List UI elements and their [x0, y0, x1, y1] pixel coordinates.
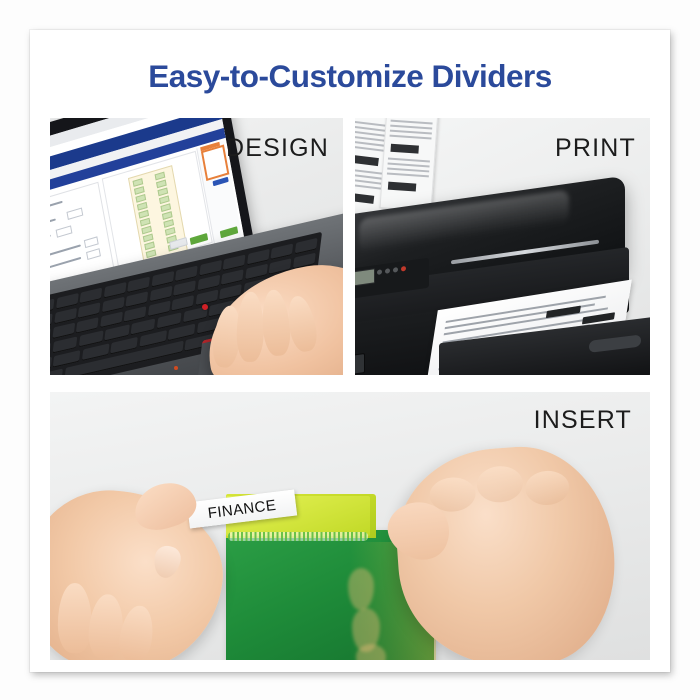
page-title: Easy-to-Customize Dividers	[30, 58, 670, 95]
keyboard-indicator-led	[174, 366, 178, 370]
printer-button[interactable]	[385, 268, 390, 274]
printer-power-button[interactable]	[401, 266, 406, 272]
divider-stitched-edge	[228, 532, 368, 541]
printer-button-row[interactable]	[377, 266, 406, 275]
rail-primary-button[interactable]	[220, 226, 239, 238]
preview-divider-sheet	[128, 165, 188, 263]
preview-primary-button[interactable]	[190, 233, 209, 245]
panel-label-design: DESIGN	[226, 134, 329, 163]
panel-insert: FINANCE INSERT	[50, 392, 650, 660]
printer-lcd-screen	[355, 268, 375, 287]
product-image-card: Easy-to-Customize Dividers	[30, 30, 670, 672]
feeder-sheet-2	[380, 118, 439, 212]
printer-usb-port	[355, 353, 365, 375]
tray-handle[interactable]	[589, 334, 641, 352]
panel-label-print: PRINT	[555, 134, 636, 163]
panel-print: PRINT	[355, 118, 650, 375]
printer-button[interactable]	[393, 267, 398, 273]
finance-label-text: FINANCE	[207, 496, 277, 521]
printer-button[interactable]	[377, 269, 382, 275]
panel-label-insert: INSERT	[534, 406, 632, 435]
screenshot-canvas: Easy-to-Customize Dividers	[0, 0, 700, 700]
panel-design: DESIGN	[50, 118, 343, 375]
